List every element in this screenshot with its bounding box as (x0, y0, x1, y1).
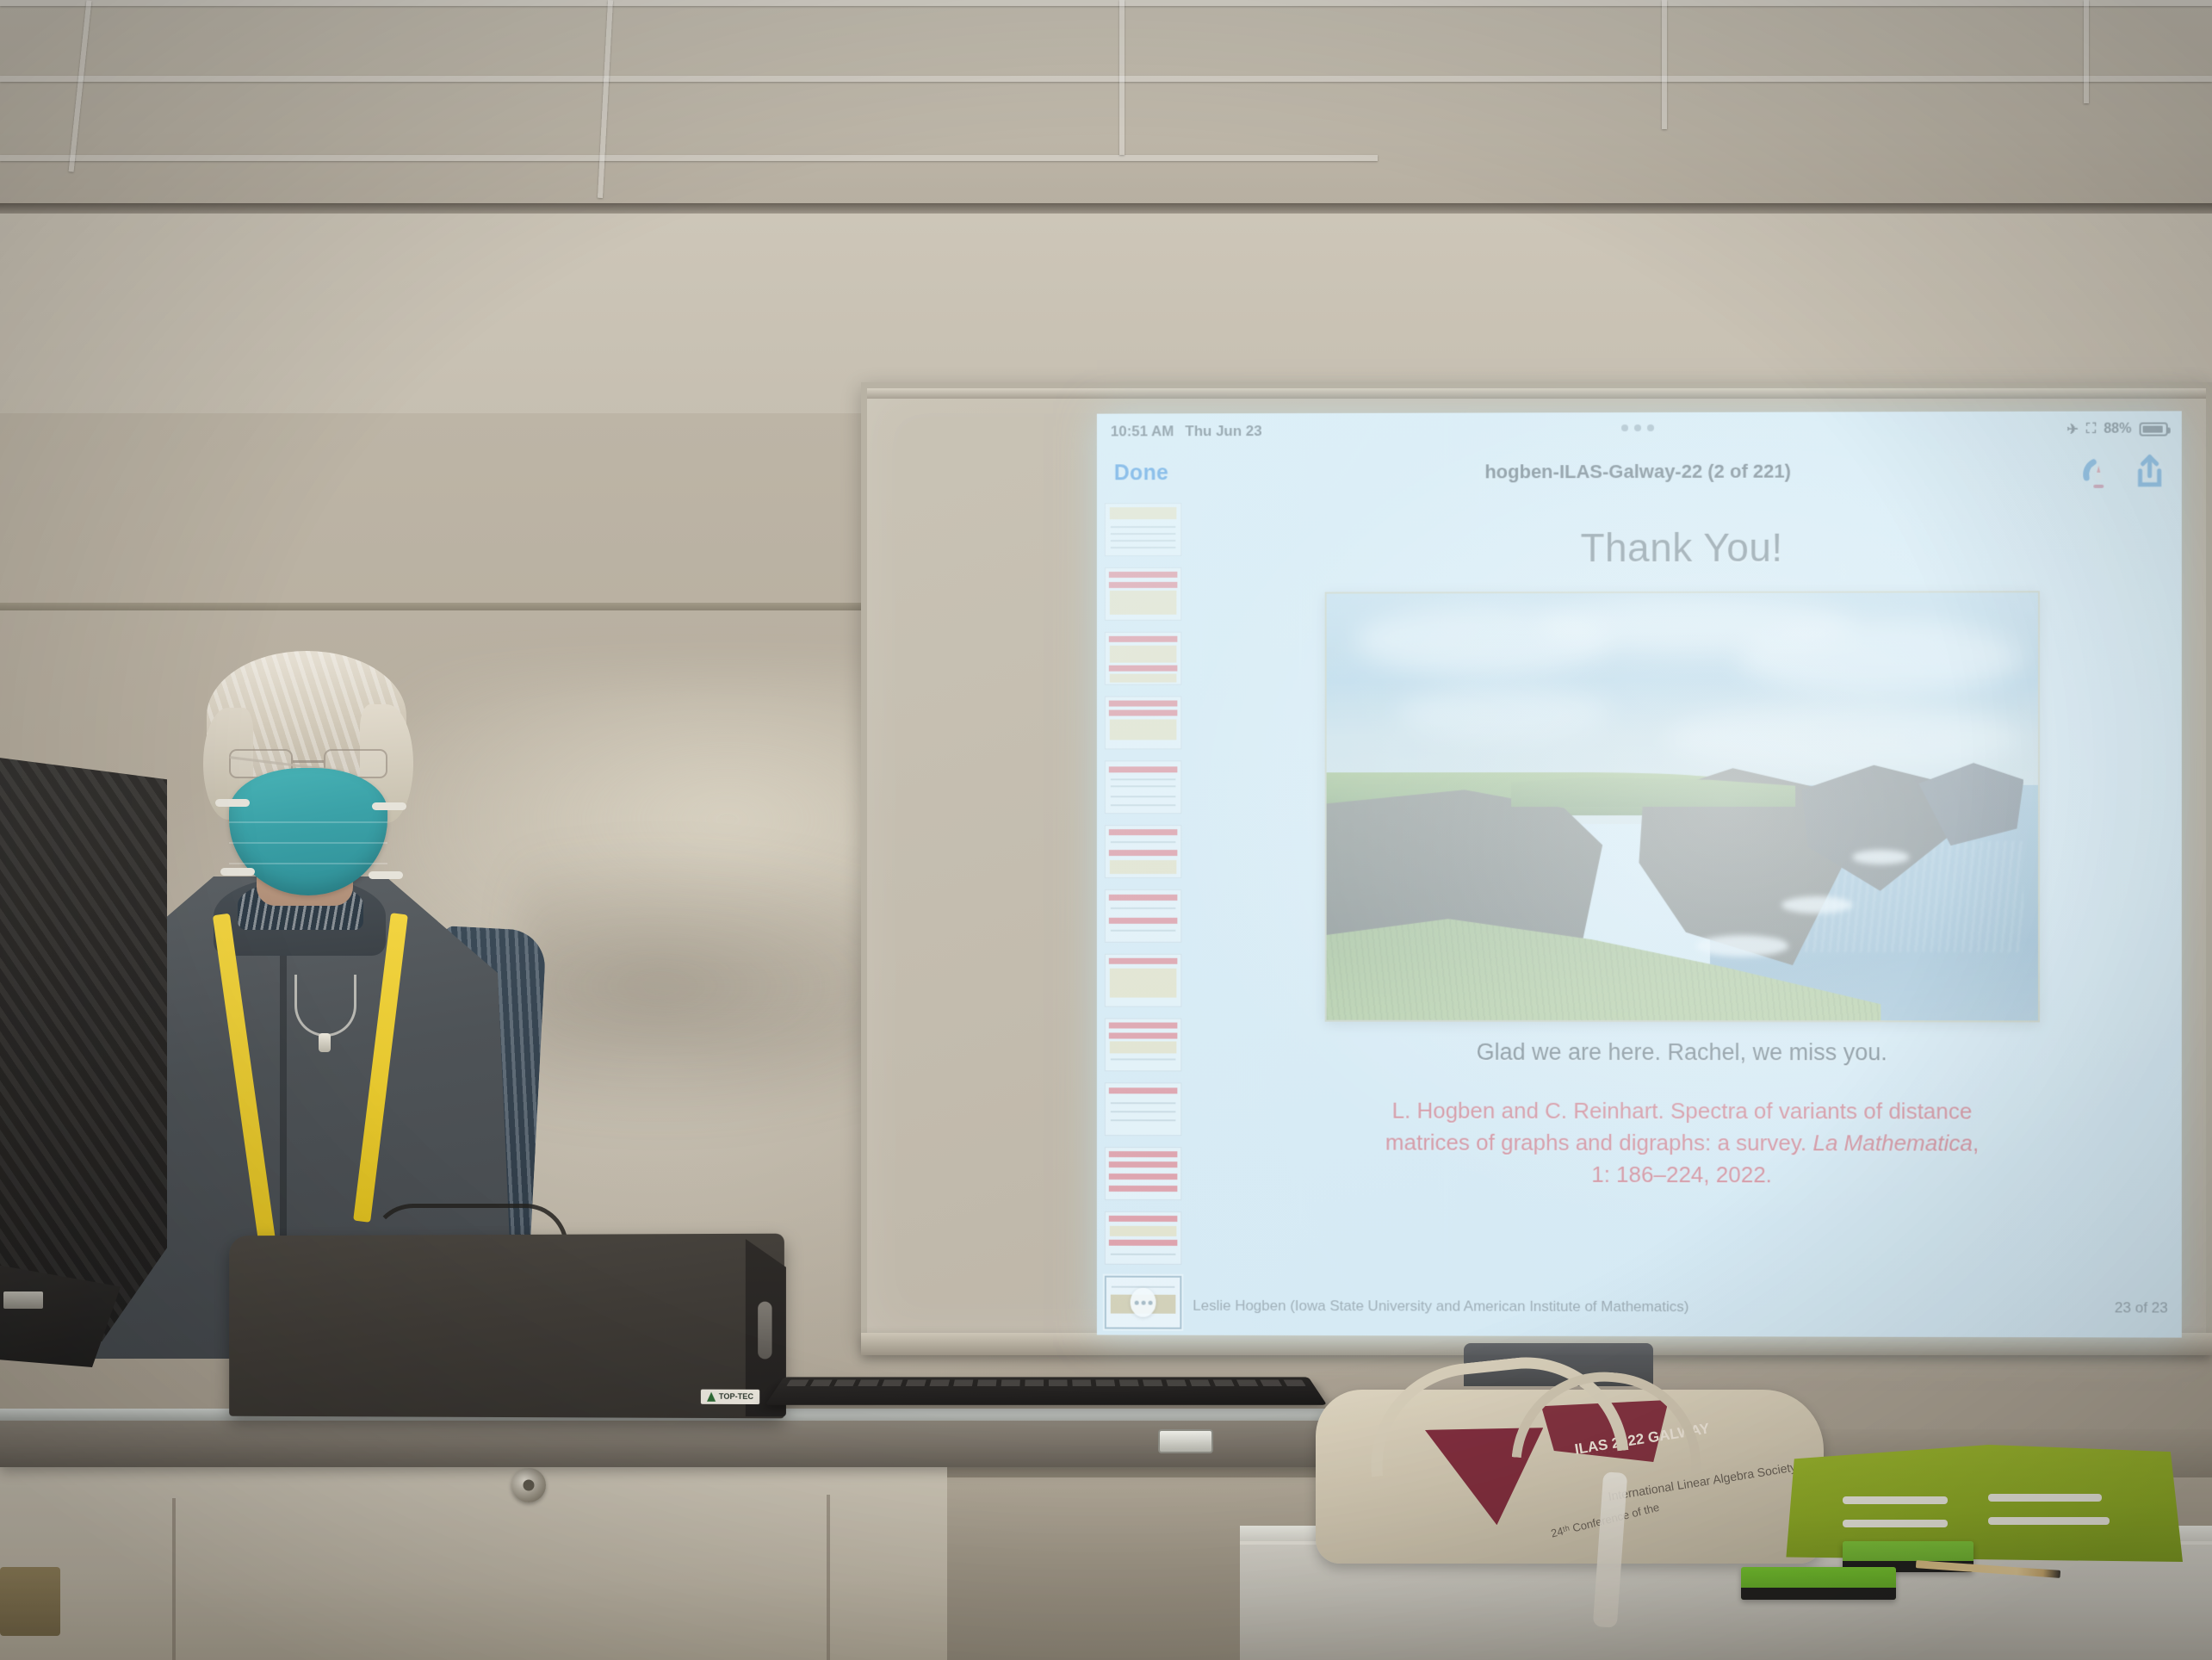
thumbnail-more-badge[interactable] (1131, 1288, 1156, 1317)
slide-thumbnail-selected[interactable] (1105, 1276, 1182, 1329)
slide-canvas: Thank You! (1193, 501, 2172, 1331)
ceiling (0, 0, 2212, 215)
slide-thumbnail[interactable] (1105, 825, 1182, 878)
slide-thumbnail[interactable] (1105, 1211, 1182, 1265)
slide-thumbnail[interactable] (1105, 760, 1182, 814)
citation-line-2-b: , (1973, 1130, 1979, 1155)
computer-monitor-rear (0, 756, 167, 1341)
ceiling-rail (0, 155, 1378, 161)
projected-screen[interactable]: 10:51 AM Thu Jun 23 ✈ ⛶ 88% Done hogben-… (1097, 411, 2182, 1337)
screen-mirroring-icon: ⛶ (2086, 422, 2096, 437)
document-title: hogben-ILAS-Galway-22 (2 of 221) (1484, 461, 1791, 484)
toptec-brand-label: TOP-TEC (701, 1390, 760, 1404)
slide-page-number: 23 of 23 (2115, 1299, 2168, 1316)
multitasking-dots-icon[interactable] (1621, 424, 1654, 431)
slide-thumbnail[interactable] (1105, 697, 1182, 750)
done-button[interactable]: Done (1114, 461, 1168, 486)
cliffs-of-moher-photo (1325, 591, 2040, 1022)
lecture-room-photo: 10:51 AM Thu Jun 23 ✈ ⛶ 88% Done hogben-… (0, 0, 2212, 1660)
status-date: Thu Jun 23 (1185, 423, 1261, 440)
slide-thumbnail[interactable] (1105, 503, 1182, 556)
face-mask (229, 768, 387, 895)
slide-thumbnail[interactable] (1105, 954, 1182, 1007)
slide-footer: Leslie Hogben (Iowa State University and… (1193, 1298, 2167, 1317)
mask-strap (215, 799, 250, 807)
desk-cabinet (0, 1453, 947, 1660)
slide-thumbnail[interactable] (1105, 1082, 1182, 1136)
mask-strap (220, 868, 255, 876)
slide-title: Thank You! (1580, 524, 1782, 571)
necklace (294, 975, 356, 1037)
desk-handle[interactable] (1158, 1429, 1213, 1453)
slide-caption: Glad we are here. Rachel, we miss you. (1477, 1039, 1887, 1066)
battery-icon (2140, 422, 2168, 436)
slide-thumbnail[interactable] (1105, 567, 1182, 621)
wall-fixture (0, 1567, 60, 1636)
wall-trim-rail (0, 603, 870, 610)
desk-surface (0, 1417, 1330, 1467)
toptec-brand-text: TOP-TEC (719, 1393, 753, 1402)
cabinet-seam (827, 1495, 830, 1660)
whiteboard-frame (867, 388, 2206, 399)
ceiling-rail (1662, 0, 1667, 129)
mask-strap (369, 871, 403, 879)
lectern-enclosure: TOP-TEC (229, 1234, 784, 1419)
ipad-status-bar: 10:51 AM Thu Jun 23 ✈ ⛶ 88% (1097, 411, 2182, 449)
whiteboard-eraser[interactable] (1741, 1567, 1896, 1600)
markup-pen-icon[interactable] (2081, 452, 2116, 490)
battery-percent: 88% (2104, 422, 2131, 437)
ceiling-rail (0, 76, 2212, 82)
slide-thumbnail[interactable] (1105, 1147, 1182, 1200)
lectern-knob[interactable] (758, 1302, 771, 1360)
ipad-nav-bar: Done hogben-ILAS-Galway-22 (2 of 221) (1097, 448, 2182, 497)
pendant (319, 1033, 331, 1052)
citation-line-2: matrices of graphs and digraphs: a surve… (1312, 1126, 2053, 1159)
cabinet-lock[interactable] (511, 1468, 546, 1502)
slide-citation: L. Hogben and C. Reinhart. Spectra of va… (1312, 1095, 2053, 1192)
ceiling-rail (2084, 0, 2089, 103)
journal-name: La Mathematica (1812, 1130, 1972, 1155)
slide-thumbnail[interactable] (1105, 889, 1182, 943)
keyboard[interactable] (765, 1377, 1327, 1404)
slide-footer-author: Leslie Hogben (Iowa State University and… (1193, 1298, 1688, 1316)
share-icon[interactable] (2135, 454, 2165, 488)
citation-line-2-a: matrices of graphs and digraphs: a surve… (1385, 1129, 1812, 1155)
slide-thumbnail[interactable] (1105, 1019, 1182, 1072)
citation-line-3: 1: 186–224, 2022. (1312, 1158, 2053, 1191)
ceiling-rail (0, 0, 2212, 6)
mask-strap (372, 802, 406, 810)
citation-line-1: L. Hogben and C. Reinhart. Spectra of va… (1312, 1095, 2053, 1128)
slide-thumbnail-rail[interactable] (1102, 499, 1184, 1330)
airplane-mode-icon: ✈ (2066, 421, 2078, 438)
conference-tote-bag: ILAS 2022 GALWAY International Linear Al… (1316, 1359, 1824, 1564)
ceiling-rail (1119, 0, 1125, 155)
status-time: 10:51 AM (1111, 423, 1174, 440)
green-chair-back (1778, 1445, 2183, 1562)
cabinet-seam (172, 1498, 176, 1660)
slide-thumbnail[interactable] (1105, 632, 1182, 685)
monitor-label (3, 1291, 43, 1309)
